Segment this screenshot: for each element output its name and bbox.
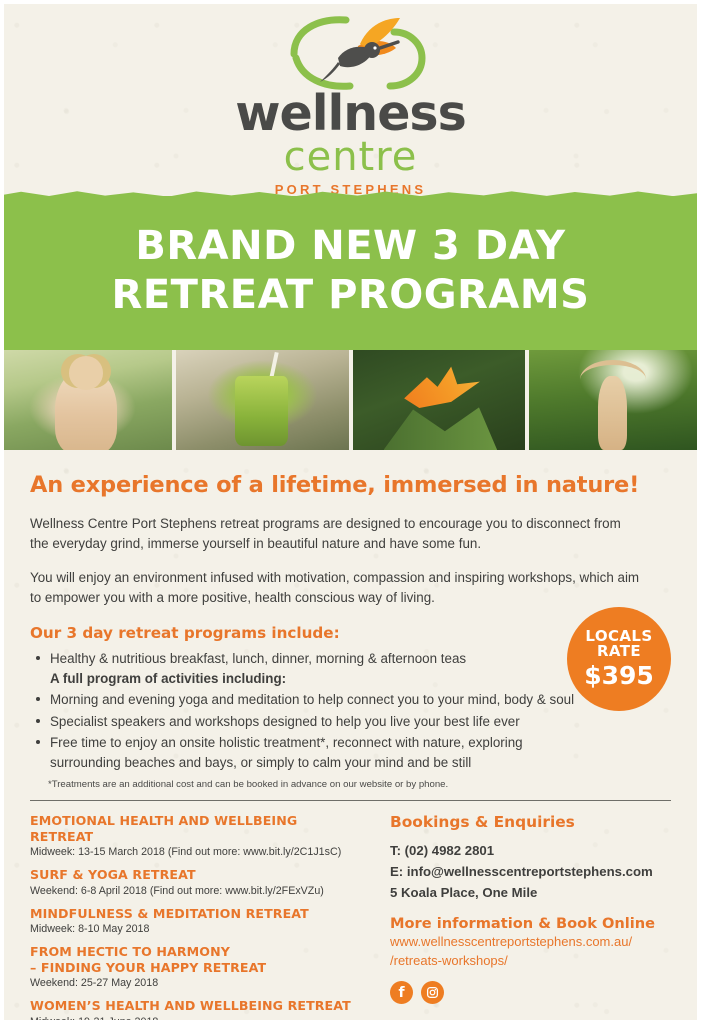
retreat-title: EMOTIONAL HEALTH AND WELLBEING RETREAT bbox=[30, 813, 364, 844]
bookings-email[interactable]: E: info@wellnesscentreportstephens.com bbox=[390, 861, 671, 882]
poster: wellness centre PORT STEPHENS BRAND NEW … bbox=[0, 0, 701, 1024]
facebook-glyph: f bbox=[398, 985, 404, 1001]
list-item-subtext: A full program of activities including: bbox=[50, 669, 578, 689]
retreat-date: Midweek: 19-21 June 2018 bbox=[30, 1015, 364, 1024]
badge-line-2: RATE bbox=[597, 644, 641, 660]
bookings-column: Bookings & Enquiries T: (02) 4982 2801 E… bbox=[364, 813, 671, 1024]
bookings-phone[interactable]: T: (02) 4982 2801 bbox=[390, 840, 671, 861]
retreat-date: Weekend: 25-27 May 2018 bbox=[30, 976, 364, 991]
logo-area: wellness centre PORT STEPHENS bbox=[0, 0, 701, 196]
headline-band: BRAND NEW 3 DAY RETREAT PROGRAMS bbox=[0, 196, 701, 350]
bottom-section: EMOTIONAL HEALTH AND WELLBEING RETREAT M… bbox=[0, 801, 701, 1024]
retreat-title: SURF & YOGA RETREAT bbox=[30, 867, 364, 883]
website-url-line-1[interactable]: www.wellnesscentreportstephens.com.au/ bbox=[390, 932, 671, 951]
list-item: WOMEN’S HEALTH AND WELLBEING RETREAT Mid… bbox=[30, 998, 364, 1024]
list-item: EMOTIONAL HEALTH AND WELLBEING RETREAT M… bbox=[30, 813, 364, 860]
headline-line-2: RETREAT PROGRAMS bbox=[0, 271, 701, 320]
retreat-title: MINDFULNESS & MEDITATION RETREAT bbox=[30, 906, 364, 922]
includes-list: Healthy & nutritious breakfast, lunch, d… bbox=[30, 649, 578, 772]
retreat-title: FROM HECTIC TO HARMONY – FINDING YOUR HA… bbox=[30, 944, 364, 975]
list-item-text: Healthy & nutritious breakfast, lunch, d… bbox=[50, 651, 466, 666]
intro-paragraph-1: Wellness Centre Port Stephens retreat pr… bbox=[30, 514, 642, 554]
locals-rate-badge: LOCALS RATE $395 bbox=[567, 607, 671, 711]
list-item: Healthy & nutritious breakfast, lunch, d… bbox=[48, 649, 578, 688]
photo-bird-of-paradise-flower bbox=[353, 350, 529, 450]
logo-wordmark-centre: centre bbox=[284, 136, 418, 178]
headline-line-1: BRAND NEW 3 DAY bbox=[0, 222, 701, 271]
bookings-address: 5 Koala Place, One Mile bbox=[390, 882, 671, 903]
intro-paragraph-2: You will enjoy an environment infused wi… bbox=[30, 568, 642, 608]
photo-woman-meditating bbox=[0, 350, 176, 450]
list-item: SURF & YOGA RETREAT Weekend: 6-8 April 2… bbox=[30, 867, 364, 899]
retreat-date: Midweek: 8-10 May 2018 bbox=[30, 922, 364, 937]
list-item: MINDFULNESS & MEDITATION RETREAT Midweek… bbox=[30, 906, 364, 938]
list-item: Specialist speakers and workshops design… bbox=[48, 712, 578, 732]
bookings-heading: Bookings & Enquiries bbox=[390, 813, 671, 831]
photo-green-smoothie bbox=[176, 350, 352, 450]
list-item: FROM HECTIC TO HARMONY – FINDING YOUR HA… bbox=[30, 944, 364, 991]
list-item: Morning and evening yoga and meditation … bbox=[48, 690, 578, 710]
list-item: Free time to enjoy an onsite holistic tr… bbox=[48, 733, 578, 772]
badge-price: $395 bbox=[584, 663, 654, 689]
social-links: f bbox=[390, 981, 671, 1004]
retreat-date[interactable]: Weekend: 6-8 April 2018 (Find out more: … bbox=[30, 884, 364, 899]
facebook-icon[interactable]: f bbox=[390, 981, 413, 1004]
photo-strip bbox=[0, 350, 701, 450]
hummingbird-icon bbox=[276, 16, 426, 90]
more-info-heading: More information & Book Online bbox=[390, 915, 671, 932]
instagram-icon[interactable] bbox=[421, 981, 444, 1004]
photo-woman-in-forest bbox=[529, 350, 701, 450]
includes-footnote: *Treatments are an additional cost and c… bbox=[48, 779, 671, 790]
retreat-title: WOMEN’S HEALTH AND WELLBEING RETREAT bbox=[30, 998, 364, 1014]
list-item-text: Free time to enjoy an onsite holistic tr… bbox=[50, 735, 523, 770]
retreat-list: EMOTIONAL HEALTH AND WELLBEING RETREAT M… bbox=[30, 813, 364, 1024]
tagline: An experience of a lifetime, immersed in… bbox=[30, 472, 671, 498]
retreat-date[interactable]: Midweek: 13-15 March 2018 (Find out more… bbox=[30, 845, 364, 860]
list-item-text: Specialist speakers and workshops design… bbox=[50, 714, 520, 729]
list-item-text: Morning and evening yoga and meditation … bbox=[50, 692, 574, 707]
website-url-line-2[interactable]: /retreats-workshops/ bbox=[390, 951, 671, 970]
logo-wordmark-wellness: wellness bbox=[235, 92, 466, 136]
